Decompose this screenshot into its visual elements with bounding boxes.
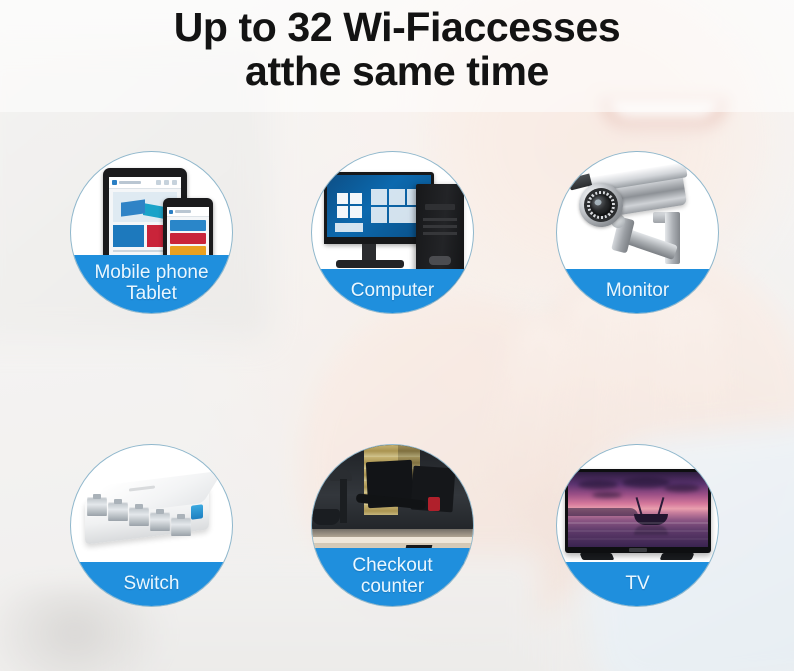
tile-label-banner: Switch <box>71 562 232 606</box>
switch-port <box>87 497 107 516</box>
tv-screen-bezel <box>565 469 711 553</box>
tile-label-banner: Checkout counter <box>312 548 473 606</box>
switch-port <box>129 507 149 526</box>
tv-foot <box>660 553 695 560</box>
tile-tv[interactable]: TV <box>557 445 718 606</box>
counter-lamp-pole <box>340 479 347 523</box>
tile-label-banner: Monitor <box>557 269 718 313</box>
tile-mobile-phone-tablet[interactable]: Mobile phone Tablet <box>71 152 232 313</box>
tile-label: Switch <box>124 574 180 595</box>
counter-basket <box>312 509 340 525</box>
tile-label: Mobile phone Tablet <box>94 263 208 304</box>
tile-label: Computer <box>351 281 434 302</box>
counter-edge-highlight <box>312 537 473 543</box>
tile-label-banner: TV <box>557 562 718 606</box>
tile-label-banner: Computer <box>312 269 473 313</box>
page-title-line-2: atthe same time <box>0 50 794 94</box>
infographic-canvas: Up to 32 Wi-Fiaccesses atthe same time <box>0 0 794 671</box>
tv-foot <box>580 553 615 560</box>
counter-red-object <box>428 497 440 511</box>
switch-port <box>108 502 128 521</box>
switch-power-led <box>191 504 203 519</box>
windows-logo-icon <box>337 193 363 219</box>
tile-checkout-counter[interactable]: Checkout counter <box>312 445 473 606</box>
tile-label: Checkout counter <box>352 556 432 597</box>
tile-computer[interactable]: Computer <box>312 152 473 313</box>
tv-picture <box>568 472 708 547</box>
monitor-base <box>336 260 404 268</box>
tv-brand-logo <box>629 548 647 552</box>
tile-label: Monitor <box>606 281 669 302</box>
switch-port <box>150 512 170 531</box>
tile-switch[interactable]: Switch <box>71 445 232 606</box>
tile-label: TV <box>625 574 649 595</box>
tile-label-banner: Mobile phone Tablet <box>71 255 232 313</box>
page-title: Up to 32 Wi-Fiaccesses atthe same time <box>0 6 794 94</box>
tile-monitor[interactable]: Monitor <box>557 152 718 313</box>
page-title-line-1: Up to 32 Wi-Fiaccesses <box>0 6 794 50</box>
switch-port <box>171 517 191 536</box>
